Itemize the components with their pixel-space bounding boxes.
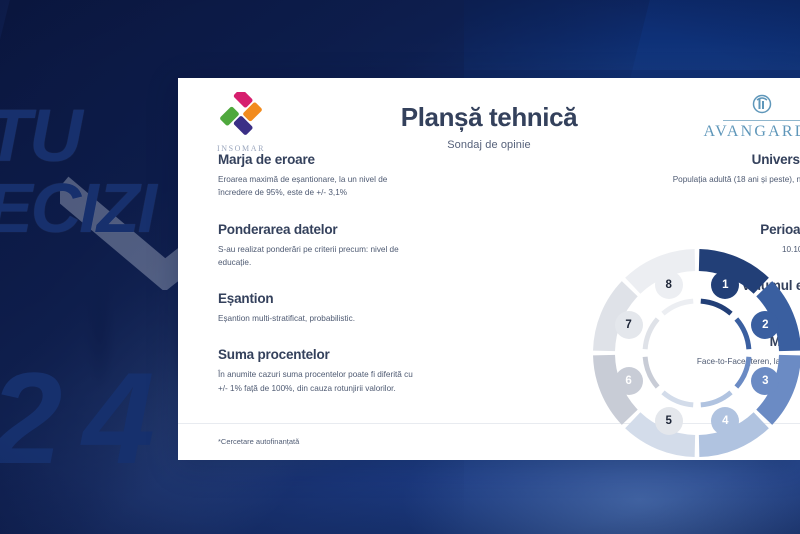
info-body: Eroarea maximă de eșantionare, la un niv… (218, 173, 423, 200)
page-title: Planșă tehnică (178, 102, 800, 133)
info-block-universul-cercetarii: Universul cercetării Populația adultă (1… (668, 152, 800, 200)
info-body: S-au realizat ponderări pe criterii prec… (218, 243, 423, 270)
donut-badge-5: 5 (655, 407, 683, 435)
donut-chart-svg (580, 236, 800, 460)
donut-segment (736, 357, 749, 387)
donut-segment (701, 392, 731, 405)
info-block-marja-de-eroare: Marja de eroare Eroarea maximă de eșanti… (218, 152, 423, 200)
page-subtitle: Sondaj de opinie (178, 139, 800, 151)
info-heading: Suma procentelor (218, 347, 423, 362)
technical-sheet-card: INSOMAR AVANGARDE Planșă tehnică Sondaj … (178, 78, 800, 460)
donut-badge-7: 7 (615, 311, 643, 339)
donut-badge-8: 8 (655, 271, 683, 299)
donut-segment (663, 301, 693, 314)
screenshot-stage: TU ECIZI 2 4 INSOMAR (0, 0, 800, 534)
left-info-column: Marja de eroare Eroarea maximă de eșanti… (218, 152, 423, 417)
info-heading: Marja de eroare (218, 152, 423, 167)
footnote: *Cercetare autofinanțată (218, 437, 299, 446)
donut-chart: 12345678 (580, 236, 800, 460)
info-heading: Universul cercetării (668, 152, 800, 167)
donut-badge-6: 6 (615, 367, 643, 395)
info-body: Populația adultă (18 ani și peste), nein… (668, 173, 800, 200)
donut-badge-1: 1 (711, 271, 739, 299)
donut-badge-2: 2 (751, 311, 779, 339)
donut-segment (701, 301, 731, 314)
info-body: În anumite cazuri suma procentelor poate… (218, 368, 423, 395)
info-body: Eșantion multi-stratificat, probabilisti… (218, 312, 423, 325)
info-block-esantion: Eșantion Eșantion multi-stratificat, pro… (218, 291, 423, 325)
donut-segment (645, 357, 658, 387)
info-block-ponderarea-datelor: Ponderarea datelor S-au realizat ponderă… (218, 222, 423, 270)
donut-inner-dashed-ring (645, 301, 749, 405)
donut-segment (663, 392, 693, 405)
info-heading: Perioada culegerii (668, 222, 800, 237)
info-heading: Ponderarea datelor (218, 222, 423, 237)
donut-outer-ring (604, 260, 790, 446)
info-heading: Eșantion (218, 291, 423, 306)
info-block-suma-procentelor: Suma procentelor În anumite cazuri suma … (218, 347, 423, 395)
donut-segment (736, 319, 749, 349)
donut-segment (645, 319, 658, 349)
